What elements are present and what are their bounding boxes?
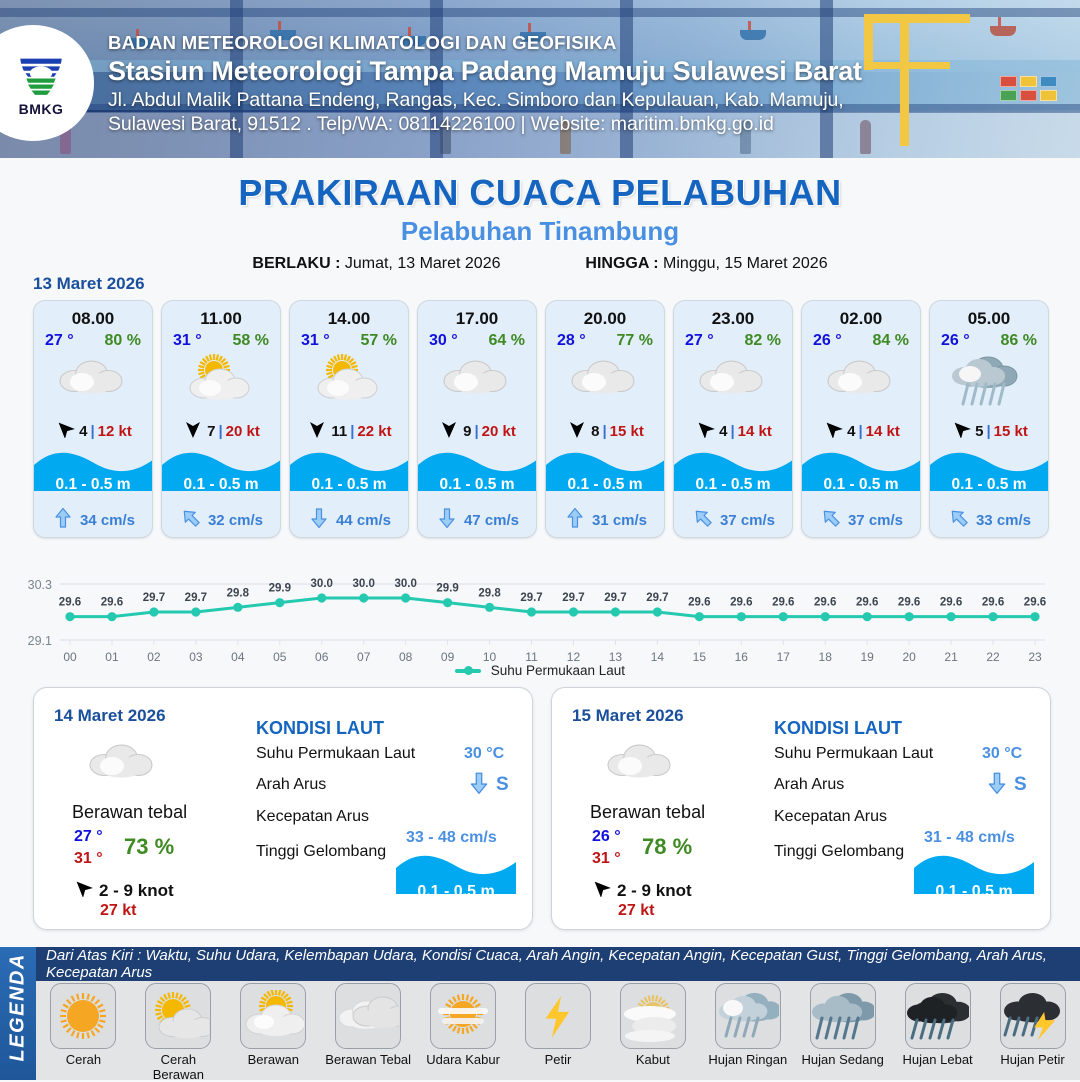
card-weather-cloudy-icon [674,352,792,414]
chart-legend-label: Suhu Permukaan Laut [491,663,625,678]
current-direction-arrow-icon [691,506,715,535]
svg-text:29.6: 29.6 [814,597,836,609]
svg-text:29.7: 29.7 [143,592,165,604]
card-humidity: 82 % [745,332,781,350]
forecast-day-label: 13 Maret 2026 [33,274,145,294]
card-temperature: 26 ° [941,332,970,350]
sst-chart: 30.329.129.60029.60129.70229.70329.80429… [0,558,1080,678]
current-speed-value: 31 - 48 cm/s [924,829,1015,847]
card-temperature: 27 ° [685,332,714,350]
wave-height-block: 0.1 - 0.5 m [546,447,664,503]
gust-speed: 14 kt [866,423,900,440]
card-time: 11.00 [162,301,280,329]
wind-speed: 8 [591,423,599,440]
svg-text:13: 13 [609,650,623,664]
svg-text:29.6: 29.6 [772,597,794,609]
logo-text: BMKG [19,101,64,117]
card-time: 23.00 [674,301,792,329]
card-time: 17.00 [418,301,536,329]
legend-thunderstorm-icon [1000,983,1066,1049]
card-temperature: 31 ° [173,332,202,350]
card-time: 20.00 [546,301,664,329]
card-humidity: 57 % [361,332,397,350]
svg-text:06: 06 [315,650,329,664]
svg-text:20: 20 [902,650,916,664]
panel-wind-arrow-icon [590,879,612,902]
current-speed-label: Kecepatan Arus [256,808,369,826]
svg-text:29.6: 29.6 [1024,597,1046,609]
legend-moderate-rain-icon [810,983,876,1049]
wind-speed: 9 [463,423,471,440]
legend-tab-label: LEGENDA [7,954,30,1062]
current-direction-arrow-icon [984,770,1010,801]
current-direction-label: Arah Arus [256,776,326,794]
wave-height-value: 0.1 - 0.5 m [546,476,664,494]
panel-gust: 27 kt [618,902,654,920]
wind-direction-arrow-icon [822,420,844,443]
panel-condition: Berawan tebal [72,802,187,823]
legend-cloud-sun-icon [240,983,306,1049]
legend-haze-icon [430,983,496,1049]
chart-legend: Suhu Permukaan Laut [0,663,1080,678]
card-weather-cloudy-icon [418,352,536,414]
wave-height-value: 0.1 - 0.5 m [674,476,792,494]
card-weather-partly-cloudy-icon [290,352,408,414]
sst-label: Suhu Permukaan Laut [774,745,933,763]
current-speed-label: Kecepatan Arus [774,808,887,826]
svg-text:16: 16 [735,650,749,664]
svg-text:11: 11 [525,650,538,664]
wave-height-value: 0.1 - 0.5 m [290,476,408,494]
svg-text:29.1: 29.1 [28,634,52,648]
wave-height-value: 0.1 - 0.5 m [34,476,152,494]
current-direction-value: S [1014,774,1027,796]
card-humidity: 58 % [233,332,269,350]
svg-text:01: 01 [105,650,119,664]
forecast-card[interactable]: 05.00 26 ° 86 % 5 | 15 kt 0.1 - 0.5 m [929,300,1049,538]
legend-item: Hujan Ringan [704,983,792,1082]
svg-text:29.7: 29.7 [185,592,207,604]
wave-height-label: Tinggi Gelombang [256,843,386,861]
forecast-card[interactable]: 02.00 26 ° 84 % 4 | 14 kt 0.1 - 0.5 m 37 [801,300,921,538]
forecast-card-row: 08.00 27 ° 80 % 4 | 12 kt 0.1 - 0.5 m 34 [33,300,1049,538]
card-temperature: 26 ° [813,332,842,350]
svg-text:18: 18 [819,650,833,664]
svg-text:22: 22 [986,650,1000,664]
panel-gust: 27 kt [100,902,136,920]
wave-height-label: Tinggi Gelombang [774,843,904,861]
svg-text:30.0: 30.0 [353,578,375,590]
legend-lightning-icon [525,983,591,1049]
panel-condition: Berawan tebal [590,802,705,823]
current-speed: 44 cm/s [336,512,391,529]
gust-speed: 14 kt [738,423,772,440]
svg-text:12: 12 [567,650,581,664]
svg-text:02: 02 [147,650,161,664]
panel-temp-min: 27 ° [74,828,103,846]
legend-item: Hujan Sedang [799,983,887,1082]
sst-label: Suhu Permukaan Laut [256,745,415,763]
daily-summary-row: 14 Maret 2026 Berawan tebal 27 ° 31 ° 73… [33,687,1051,930]
legend-item-label: Berawan Tebal [324,1052,412,1067]
card-weather-cloudy-icon [802,352,920,414]
card-weather-rain-icon [930,352,1048,414]
wind-speed: 4 [719,423,727,440]
legend-item: Kabut [609,983,697,1082]
valid-to-label: HINGGA : [585,255,658,272]
wave-height-block: 0.1 - 0.5 m [290,447,408,503]
card-temperature: 30 ° [429,332,458,350]
panel-weather-cloudy-icon [86,738,158,799]
current-speed: 37 cm/s [848,512,903,529]
panel-humidity: 73 % [124,834,174,860]
panel-wind-range: 2 - 9 knot [99,881,174,901]
wave-height-block: 0.1 - 0.5 m [162,447,280,503]
panel-weather-cloudy-icon [604,738,676,799]
validity-range: BERLAKU : Jumat, 13 Maret 2026 HINGGA : … [0,255,1080,273]
legend-item-label: Hujan Ringan [704,1052,792,1067]
svg-text:29.6: 29.6 [730,597,752,609]
sst-chart-svg: 30.329.129.60029.60129.70229.70329.80429… [0,558,1080,678]
legend-clouds-icon [335,983,401,1049]
svg-text:04: 04 [231,650,245,664]
page-title: PRAKIRAAN CUACA PELABUHAN [0,172,1080,214]
agency-name: BADAN METEOROLOGI KLIMATOLOGI DAN GEOFIS… [108,32,862,54]
svg-text:29.9: 29.9 [269,583,291,595]
svg-text:29.6: 29.6 [101,597,123,609]
gust-speed: 12 kt [98,423,132,440]
svg-text:07: 07 [357,650,371,664]
wave-height-value: 0.1 - 0.5 m [418,476,536,494]
wind-direction-arrow-icon [182,420,204,443]
card-time: 08.00 [34,301,152,329]
svg-text:30.0: 30.0 [394,578,416,590]
card-time: 05.00 [930,301,1048,329]
legend-item-label: Hujan Petir [989,1052,1077,1067]
legend-item-label: Hujan Lebat [894,1052,982,1067]
svg-text:19: 19 [860,650,874,664]
card-temperature: 27 ° [45,332,74,350]
wind-direction-arrow-icon [438,420,460,443]
title-section: PRAKIRAAN CUACA PELABUHAN Pelabuhan Tina… [0,158,1080,273]
legend-item: Cerah Berawan [134,983,222,1082]
legend-heavy-rain-icon [905,983,971,1049]
card-humidity: 84 % [873,332,909,350]
svg-text:29.6: 29.6 [898,597,920,609]
svg-text:29.6: 29.6 [856,597,878,609]
valid-from-label: BERLAKU : [252,255,340,272]
svg-text:15: 15 [693,650,707,664]
legend-light-rain-icon [715,983,781,1049]
forecast-card[interactable]: 23.00 27 ° 82 % 4 | 14 kt 0.1 - 0.5 m 37 [673,300,793,538]
wind-direction-arrow-icon [566,420,588,443]
sst-value: 30 °C [982,745,1022,763]
panel-humidity: 78 % [642,834,692,860]
valid-to-value: Minggu, 15 Maret 2026 [663,255,828,272]
wave-height-block: 0.1 - 0.5 m [418,447,536,503]
gust-speed: 22 kt [357,423,391,440]
svg-text:09: 09 [441,650,455,664]
current-direction-label: Arah Arus [774,776,844,794]
wind-speed: 4 [79,423,87,440]
legend-item: Hujan Petir [989,983,1077,1082]
legend-item-label: Kabut [609,1052,697,1067]
port-name: Pelabuhan Tinambung [0,216,1080,247]
card-temperature: 31 ° [301,332,330,350]
station-name: Stasiun Meteorologi Tampa Padang Mamuju … [108,56,862,87]
gust-speed: 20 kt [226,423,260,440]
current-direction-arrow-icon [563,506,587,535]
wind-speed: 4 [847,423,855,440]
wave-height-value: 0.1 - 0.5 m [802,476,920,494]
svg-text:05: 05 [273,650,287,664]
bmkg-emblem-icon [15,50,67,100]
card-time: 14.00 [290,301,408,329]
wind-direction-arrow-icon [54,420,76,443]
forecast-card[interactable]: 14.00 31 ° 57 % 11 | 22 kt 0.1 - 0.5 m 4 [289,300,409,538]
current-speed: 32 cm/s [208,512,263,529]
current-speed: 31 cm/s [592,512,647,529]
legend-item-label: Udara Kabur [419,1052,507,1067]
wave-height-block: 0.1 - 0.5 m [802,447,920,503]
daily-summary-panel: 14 Maret 2026 Berawan tebal 27 ° 31 ° 73… [33,687,533,930]
card-humidity: 64 % [489,332,525,350]
svg-text:29.7: 29.7 [646,592,668,604]
gust-speed: 15 kt [610,423,644,440]
svg-text:29.8: 29.8 [478,587,501,599]
current-direction-arrow-icon [947,506,971,535]
svg-text:29.7: 29.7 [520,592,542,604]
legend-section: LEGENDA Dari Atas Kiri : Waktu, Suhu Uda… [0,947,1080,1080]
current-direction-value: S [496,774,509,796]
panel-wave-value: 0.1 - 0.5 m [392,883,520,901]
chart-legend-swatch [455,669,481,673]
sea-condition-title: KONDISI LAUT [256,718,384,739]
current-direction-arrow-icon [179,506,203,535]
current-speed: 33 cm/s [976,512,1031,529]
gust-speed: 15 kt [994,423,1028,440]
svg-text:29.7: 29.7 [604,592,626,604]
svg-text:30.3: 30.3 [28,578,52,592]
svg-text:21: 21 [944,650,958,664]
wave-height-block: 0.1 - 0.5 m [674,447,792,503]
legend-item-label: Hujan Sedang [799,1052,887,1067]
legend-item-label: Cerah Berawan [134,1052,222,1082]
svg-text:14: 14 [651,650,665,664]
legend-item-label: Petir [514,1052,602,1067]
forecast-card[interactable]: 11.00 31 ° 58 % 7 | 20 kt 0.1 - 0.5 m 32 [161,300,281,538]
card-humidity: 77 % [617,332,653,350]
legend-item: Udara Kabur [419,983,507,1082]
wind-speed: 7 [207,423,215,440]
panel-wind-range: 2 - 9 knot [617,881,692,901]
card-temperature: 28 ° [557,332,586,350]
wind-direction-arrow-icon [694,420,716,443]
legend-item: Berawan [229,983,317,1082]
wave-height-block: 0.1 - 0.5 m [34,447,152,503]
wind-speed: 11 [331,423,347,440]
svg-text:29.6: 29.6 [940,597,962,609]
legend-fog-icon [620,983,686,1049]
forecast-card[interactable]: 20.00 28 ° 77 % 8 | 15 kt 0.1 - 0.5 m 31 [545,300,665,538]
wave-height-value: 0.1 - 0.5 m [930,476,1048,494]
svg-text:29.8: 29.8 [227,587,250,599]
daily-summary-panel: 15 Maret 2026 Berawan tebal 26 ° 31 ° 78… [551,687,1051,930]
card-weather-cloudy-icon [546,352,664,414]
panel-date: 15 Maret 2026 [572,706,684,726]
valid-from-value: Jumat, 13 Maret 2026 [345,255,501,272]
svg-text:03: 03 [189,650,203,664]
wave-height-block: 0.1 - 0.5 m [930,447,1048,503]
legend-sun-cloud-icon [145,983,211,1049]
card-time: 02.00 [802,301,920,329]
wind-speed: 5 [975,423,983,440]
svg-text:29.6: 29.6 [982,597,1004,609]
current-speed: 37 cm/s [720,512,775,529]
card-weather-partly-cloudy-icon [162,352,280,414]
current-direction-arrow-icon [435,506,459,535]
legend-item: Petir [514,983,602,1082]
panel-date: 14 Maret 2026 [54,706,166,726]
legend-item: Hujan Lebat [894,983,982,1082]
panel-wave-value: 0.1 - 0.5 m [910,883,1038,901]
card-weather-cloudy-icon [34,352,152,414]
sea-condition-title: KONDISI LAUT [774,718,902,739]
card-humidity: 80 % [105,332,141,350]
current-direction-arrow-icon [819,506,843,535]
panel-wind-arrow-icon [72,879,94,902]
svg-text:23: 23 [1028,650,1042,664]
svg-text:08: 08 [399,650,413,664]
panel-temp-max: 31 ° [592,850,621,868]
forecast-card[interactable]: 17.00 30 ° 64 % 9 | 20 kt 0.1 - 0.5 m 47 [417,300,537,538]
legend-item: Cerah [39,983,127,1082]
sst-value: 30 °C [464,745,504,763]
svg-text:29.6: 29.6 [688,597,710,609]
gust-speed: 20 kt [482,423,516,440]
legend-note: Dari Atas Kiri : Waktu, Suhu Udara, Kele… [36,947,1080,981]
legend-tab: LEGENDA [0,947,36,1080]
address-line-2: Sulawesi Barat, 91512 . Telp/WA: 0811422… [108,113,862,136]
svg-text:29.9: 29.9 [436,583,458,595]
legend-item-row: Cerah Cerah Berawan Berawan Berawan Teba… [36,983,1080,1082]
panel-temp-max: 31 ° [74,850,103,868]
current-speed: 34 cm/s [80,512,135,529]
page-header: BMKG BADAN METEOROLOGI KLIMATOLOGI DAN G… [0,0,1080,158]
panel-temp-min: 26 ° [592,828,621,846]
current-direction-arrow-icon [51,506,75,535]
forecast-card[interactable]: 08.00 27 ° 80 % 4 | 12 kt 0.1 - 0.5 m 34 [33,300,153,538]
svg-text:29.7: 29.7 [562,592,584,604]
svg-text:10: 10 [483,650,497,664]
wind-direction-arrow-icon [950,420,972,443]
current-direction-arrow-icon [466,770,492,801]
legend-item-label: Cerah [39,1052,127,1067]
current-speed-value: 33 - 48 cm/s [406,829,497,847]
svg-text:30.0: 30.0 [311,578,333,590]
address-line-1: Jl. Abdul Malik Pattana Endeng, Rangas, … [108,89,862,112]
wind-direction-arrow-icon [306,420,328,443]
svg-text:29.6: 29.6 [59,597,81,609]
legend-item: Berawan Tebal [324,983,412,1082]
card-humidity: 86 % [1001,332,1037,350]
wave-height-value: 0.1 - 0.5 m [162,476,280,494]
current-speed: 47 cm/s [464,512,519,529]
svg-text:17: 17 [777,650,791,664]
legend-item-label: Berawan [229,1052,317,1067]
current-direction-arrow-icon [307,506,331,535]
svg-text:00: 00 [63,650,77,664]
legend-sun-icon [50,983,116,1049]
